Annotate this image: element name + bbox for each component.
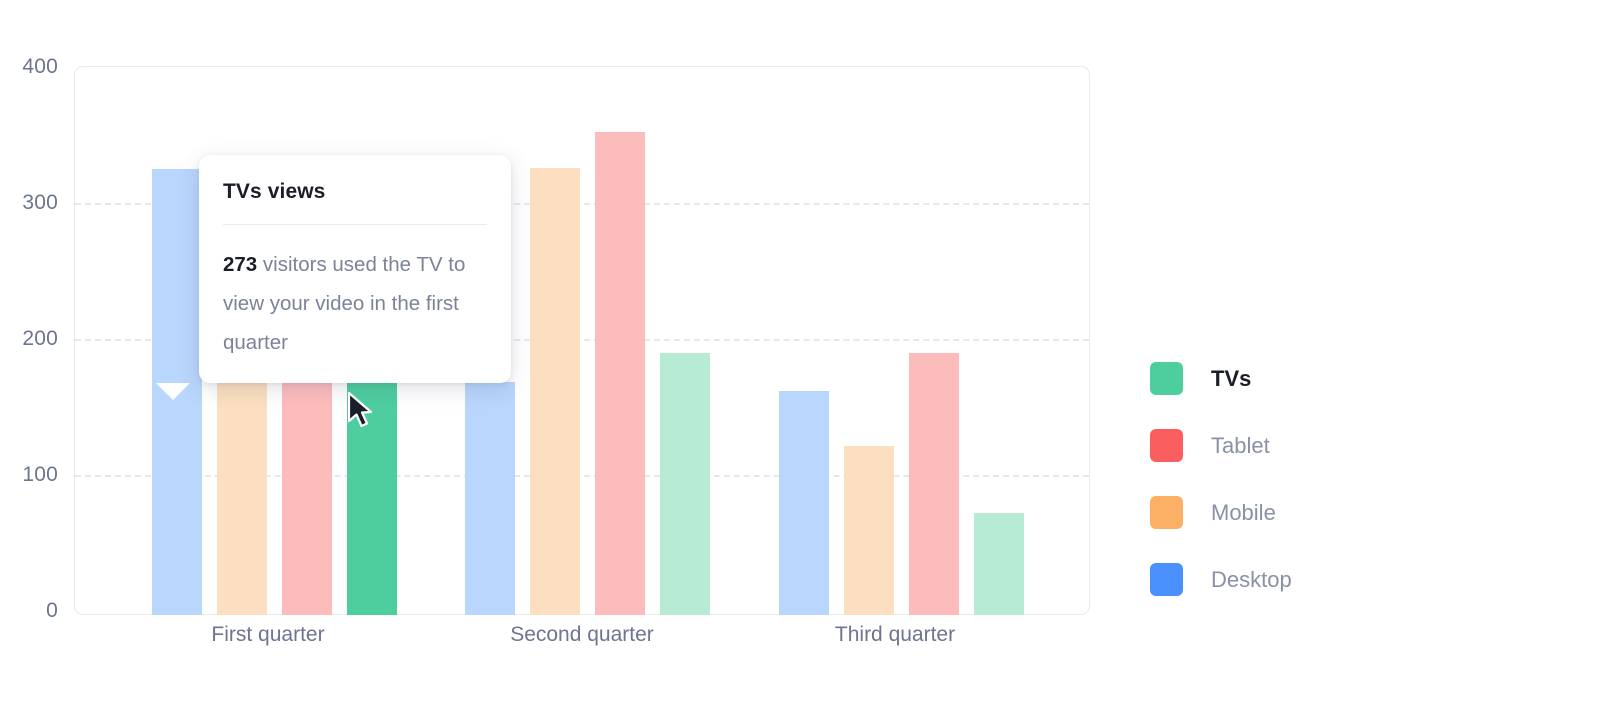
bar-mobile-first-quarter[interactable] xyxy=(217,379,267,615)
y-tick-100: 100 xyxy=(2,464,58,485)
y-tick-400: 400 xyxy=(2,56,58,77)
bar-chart: 400 300 200 100 0 First quarter Second q… xyxy=(0,0,1600,726)
x-axis: First quarter Second quarter Third quart… xyxy=(74,622,1090,672)
chart-tooltip: TVs views 273 visitors used the TV to vi… xyxy=(199,155,511,383)
legend-item-tvs[interactable]: TVs xyxy=(1150,345,1470,412)
tooltip-divider xyxy=(223,224,487,225)
legend-swatch-mobile-icon xyxy=(1150,496,1183,529)
legend-swatch-tablet-icon xyxy=(1150,429,1183,462)
tooltip-body: 273 visitors used the TV to view your vi… xyxy=(223,245,487,362)
x-tick-second-quarter: Second quarter xyxy=(510,622,654,647)
legend-item-tablet[interactable]: Tablet xyxy=(1150,412,1470,479)
legend-swatch-desktop-icon xyxy=(1150,563,1183,596)
bar-tablet-second-quarter[interactable] xyxy=(595,132,645,615)
bar-tablet-third-quarter[interactable] xyxy=(909,353,959,615)
legend-label: Mobile xyxy=(1211,502,1276,524)
bar-desktop-third-quarter[interactable] xyxy=(779,391,829,615)
y-tick-200: 200 xyxy=(2,328,58,349)
legend-label: TVs xyxy=(1211,368,1251,390)
bar-desktop-second-quarter[interactable] xyxy=(465,382,515,615)
tooltip-value: 273 xyxy=(223,253,257,276)
bar-tvs-third-quarter[interactable] xyxy=(974,513,1024,615)
tooltip-caret-icon xyxy=(156,383,190,400)
y-tick-300: 300 xyxy=(2,192,58,213)
x-tick-first-quarter: First quarter xyxy=(211,622,324,647)
x-tick-third-quarter: Third quarter xyxy=(835,622,955,647)
legend-item-mobile[interactable]: Mobile xyxy=(1150,479,1470,546)
legend-item-desktop[interactable]: Desktop xyxy=(1150,546,1470,613)
bar-mobile-second-quarter[interactable] xyxy=(530,168,580,615)
chart-legend: TVsTabletMobileDesktop xyxy=(1150,345,1470,613)
y-axis: 400 300 200 100 0 xyxy=(0,0,58,726)
y-tick-0: 0 xyxy=(2,600,58,621)
tooltip-title: TVs views xyxy=(223,181,487,202)
bar-mobile-third-quarter[interactable] xyxy=(844,446,894,615)
tooltip-text: visitors used the TV to view your video … xyxy=(223,253,465,354)
bar-tablet-first-quarter[interactable] xyxy=(282,379,332,615)
legend-label: Desktop xyxy=(1211,569,1292,591)
bar-tvs-second-quarter[interactable] xyxy=(660,353,710,615)
legend-label: Tablet xyxy=(1211,435,1270,457)
legend-swatch-tvs-icon xyxy=(1150,362,1183,395)
